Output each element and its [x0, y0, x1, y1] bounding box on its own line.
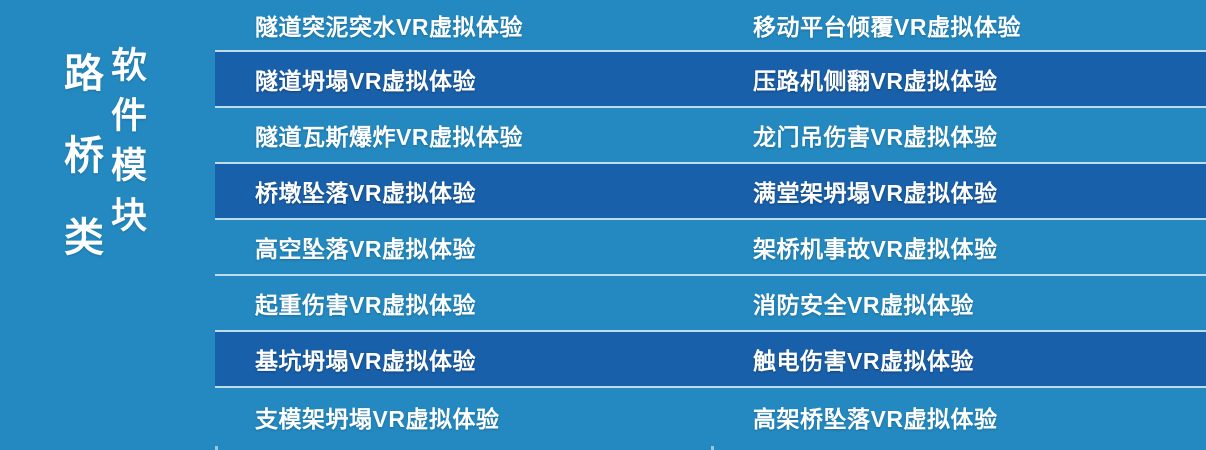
module-cell[interactable]: 隧道瓦斯爆炸VR虚拟体验	[215, 108, 711, 164]
module-label: 架桥机事故VR虚拟体验	[753, 230, 997, 264]
module-cell[interactable]: 桥墩坠落VR虚拟体验	[215, 164, 711, 220]
category-panel: 路桥类 软件模块	[0, 0, 215, 450]
module-label: 移动平台倾覆VR虚拟体验	[753, 8, 1021, 42]
module-cell[interactable]: 基坑坍塌VR虚拟体验	[215, 332, 711, 388]
category-secondary-label: 软件模块	[108, 46, 144, 246]
module-label: 起重伤害VR虚拟体验	[255, 286, 476, 320]
module-label: 隧道突泥突水VR虚拟体验	[255, 8, 523, 42]
module-grid: 隧道突泥突水VR虚拟体验 隧道坍塌VR虚拟体验 隧道瓦斯爆炸VR虚拟体验 桥墩坠…	[215, 0, 1206, 450]
module-label: 满堂架坍塌VR虚拟体验	[753, 174, 997, 208]
vr-module-catalog: 路桥类 软件模块 隧道突泥突水VR虚拟体验 隧道坍塌VR虚拟体验 隧道瓦斯爆炸V…	[0, 0, 1206, 450]
module-label: 高空坠落VR虚拟体验	[255, 230, 476, 264]
module-cell[interactable]: 支模架坍塌VR虚拟体验	[215, 388, 711, 446]
module-column-1: 隧道突泥突水VR虚拟体验 隧道坍塌VR虚拟体验 隧道瓦斯爆炸VR虚拟体验 桥墩坠…	[215, 0, 711, 450]
module-cell[interactable]: 压路机侧翻VR虚拟体验	[711, 52, 1206, 108]
module-cell[interactable]: 起重伤害VR虚拟体验	[215, 276, 711, 332]
module-column-2: 移动平台倾覆VR虚拟体验 压路机侧翻VR虚拟体验 龙门吊伤害VR虚拟体验 满堂架…	[711, 0, 1206, 450]
module-label: 高架桥坠落VR虚拟体验	[753, 400, 997, 434]
category-primary-label: 路桥类	[60, 52, 100, 298]
module-label: 隧道坍塌VR虚拟体验	[255, 62, 476, 96]
module-cell[interactable]: 架桥机事故VR虚拟体验	[711, 220, 1206, 276]
module-label: 支模架坍塌VR虚拟体验	[255, 400, 499, 434]
module-label: 桥墩坠落VR虚拟体验	[255, 174, 476, 208]
module-label: 触电伤害VR虚拟体验	[753, 342, 974, 376]
module-label: 消防安全VR虚拟体验	[753, 286, 974, 320]
module-cell[interactable]: 隧道突泥突水VR虚拟体验	[215, 0, 711, 52]
module-label: 隧道瓦斯爆炸VR虚拟体验	[255, 118, 523, 152]
module-cell[interactable]: 高架桥坠落VR虚拟体验	[711, 388, 1206, 446]
module-cell[interactable]: 移动平台倾覆VR虚拟体验	[711, 0, 1206, 52]
module-cell[interactable]: 消防安全VR虚拟体验	[711, 276, 1206, 332]
module-cell[interactable]: 高空坠落VR虚拟体验	[215, 220, 711, 276]
module-cell[interactable]: 隧道坍塌VR虚拟体验	[215, 52, 711, 108]
module-cell[interactable]: 触电伤害VR虚拟体验	[711, 332, 1206, 388]
module-label: 基坑坍塌VR虚拟体验	[255, 342, 476, 376]
module-label: 压路机侧翻VR虚拟体验	[753, 62, 997, 96]
module-cell[interactable]: 满堂架坍塌VR虚拟体验	[711, 164, 1206, 220]
module-label: 龙门吊伤害VR虚拟体验	[753, 118, 997, 152]
module-cell[interactable]: 龙门吊伤害VR虚拟体验	[711, 108, 1206, 164]
